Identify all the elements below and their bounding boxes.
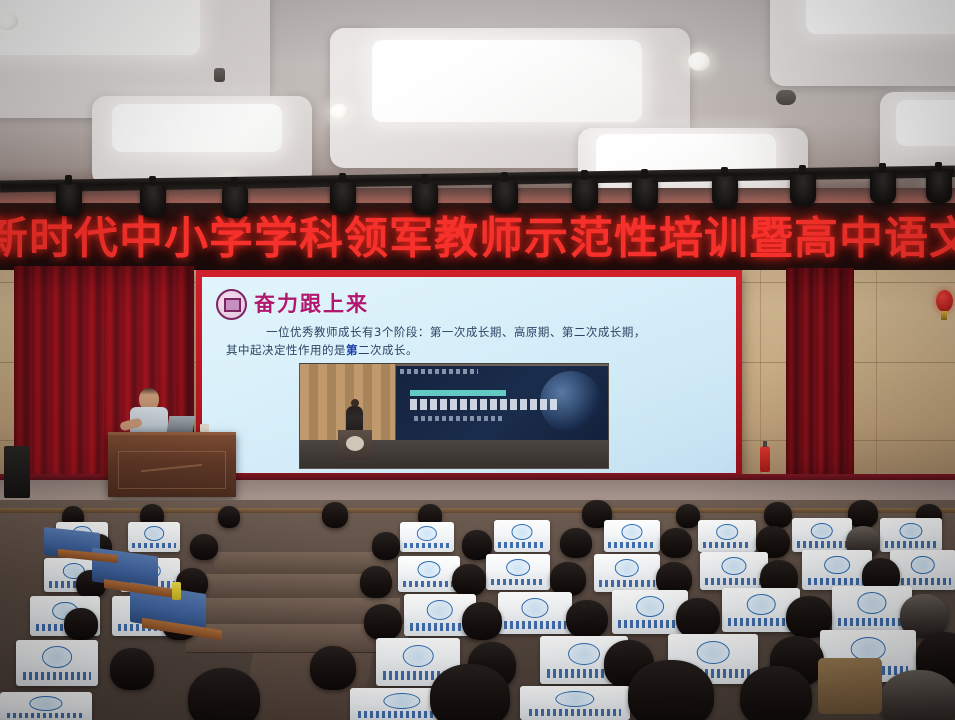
chair-cover	[128, 522, 180, 552]
school-logo-icon	[42, 646, 72, 667]
ceiling-speaker	[776, 90, 796, 105]
downlight	[688, 52, 710, 71]
school-logo-icon	[29, 696, 62, 711]
school-logo-icon	[417, 561, 440, 578]
audience-head	[462, 602, 502, 640]
chair-cover-text	[797, 541, 847, 547]
ceiling-light-panel	[372, 40, 642, 122]
chair-cover	[802, 550, 872, 590]
school-logo-icon	[511, 524, 532, 539]
ceiling-light-panel	[896, 100, 955, 146]
photo-podium	[338, 430, 372, 460]
presentation-slide: 奋力跟上来 一位优秀教师成长有3个阶段：第一次成长期、高原期、第二次成长期， 其…	[202, 277, 736, 473]
school-logo-icon	[747, 594, 776, 614]
par-can-light	[926, 171, 952, 203]
chair-cover	[398, 556, 460, 592]
audience-head	[64, 608, 98, 640]
audience-seating	[0, 500, 955, 720]
audience-head	[628, 660, 714, 720]
audience-head	[322, 502, 348, 528]
audience-head	[364, 604, 402, 640]
ceiling-light-panel	[0, 0, 200, 55]
chair-cover-text	[404, 543, 449, 548]
chair-cover-text	[7, 713, 84, 718]
school-logo-icon	[811, 523, 833, 539]
chair-cover-text	[498, 542, 545, 548]
audience-head	[188, 668, 260, 720]
audience-head	[452, 564, 486, 596]
chair-cover-text	[705, 578, 762, 585]
photo-inner-title-text	[410, 399, 560, 410]
audience-head	[550, 562, 586, 596]
par-can-light	[632, 178, 658, 210]
par-can-light	[222, 186, 248, 218]
chair-cover-text	[618, 620, 682, 628]
chair-cover-text	[728, 618, 794, 626]
audience-head	[566, 600, 608, 638]
downlight	[330, 104, 349, 120]
laptop	[167, 416, 196, 432]
projection-screen: 奋力跟上来 一位优秀教师成长有3个阶段：第一次成长期、高原期、第二次成长期， 其…	[196, 270, 742, 482]
school-logo-icon	[636, 596, 664, 616]
chair-cover	[880, 518, 942, 552]
par-can-light	[140, 185, 166, 217]
audience-head	[848, 500, 878, 528]
audience-head	[110, 648, 154, 690]
wall-seam	[876, 270, 877, 485]
chair-cover	[494, 520, 550, 552]
chair-cover	[400, 522, 454, 552]
chair-cover-text	[529, 709, 621, 715]
ceiling-light-panel	[112, 104, 282, 152]
audience-head	[430, 664, 510, 720]
water-bottle	[172, 582, 181, 600]
audience-head	[560, 528, 592, 558]
school-logo-icon	[506, 559, 530, 576]
chair-cover-text	[23, 672, 92, 680]
chair-cover	[16, 640, 98, 686]
audience-head	[190, 534, 218, 560]
school-logo-icon	[911, 556, 935, 575]
handbag	[818, 658, 882, 714]
photo-inner-screen	[396, 366, 608, 440]
school-logo-icon	[383, 693, 420, 709]
seal-logo-icon	[216, 289, 247, 320]
chair-cover-text	[491, 579, 545, 585]
chair-cover-text	[808, 578, 867, 585]
banner-text: 新时代中小学学科领军教师示范性培训暨高中语文教学经验交流	[0, 208, 955, 270]
school-logo-icon	[427, 600, 453, 620]
audience-head	[676, 504, 700, 528]
photo-inner-header-text	[400, 369, 478, 374]
fire-extinguisher	[760, 446, 770, 472]
school-logo-icon	[555, 691, 594, 707]
chair-cover	[486, 554, 550, 590]
ceiling-light-panel	[806, 0, 955, 34]
school-logo-icon	[403, 645, 434, 667]
photo-inner-subtitle-text	[414, 416, 502, 421]
chair-cover-text	[838, 618, 905, 626]
school-logo-icon	[721, 557, 746, 575]
par-can-light	[412, 183, 438, 215]
school-logo-icon	[716, 524, 738, 539]
conference-hall-photo: 新时代中小学学科领军教师示范性培训暨高中语文教学经验交流 奋力跟上来 一位优秀教…	[0, 0, 955, 720]
par-can-light	[870, 172, 896, 204]
school-logo-icon	[824, 556, 850, 575]
par-can-light	[492, 181, 518, 213]
red-lantern	[936, 290, 953, 312]
chair-cover	[698, 520, 756, 552]
chair-cover	[520, 686, 630, 720]
school-logo-icon	[615, 559, 639, 577]
par-can-light	[56, 184, 82, 216]
stage-curtain-right	[786, 268, 854, 486]
chair-cover	[604, 520, 660, 552]
floor-speaker	[4, 446, 30, 498]
audience-head	[660, 528, 692, 558]
par-can-light	[790, 174, 816, 206]
chair-cover	[498, 592, 572, 634]
school-logo-icon	[899, 523, 922, 539]
stair-step	[214, 552, 384, 575]
embedded-lecture-photo	[299, 363, 609, 469]
audience-head	[360, 566, 392, 598]
audience-head	[880, 670, 955, 720]
par-can-light	[330, 182, 356, 214]
chair-cover	[792, 518, 852, 552]
chair-cover-text	[504, 621, 566, 629]
chair-cover-text	[132, 543, 176, 548]
podium	[108, 432, 236, 497]
slide-title: 奋力跟上来	[254, 288, 369, 318]
slide-body: 一位优秀教师成长有3个阶段：第一次成长期、高原期、第二次成长期， 其中起决定性作…	[226, 323, 720, 359]
school-logo-icon	[621, 524, 642, 539]
chair-cover-text	[608, 542, 655, 548]
chair-cover	[594, 554, 660, 592]
ceiling-speaker	[214, 68, 225, 82]
par-can-light	[712, 176, 738, 208]
chair-cover	[700, 552, 768, 590]
slide-body-line-2-post: 二次成长。	[358, 343, 418, 357]
slide-body-line-1: 一位优秀教师成长有3个阶段：第一次成长期、高原期、第二次成长期，	[226, 323, 720, 341]
audience-head	[372, 532, 400, 560]
chair-cover	[0, 692, 92, 720]
par-can-light	[572, 179, 598, 211]
audience-head	[676, 598, 720, 638]
audience-head	[310, 646, 356, 690]
slide-body-line-2-pre: 其中起决定性作用的是	[226, 343, 346, 357]
chair-cover	[890, 550, 955, 590]
audience-head	[740, 666, 812, 720]
slide-body-emphasis: 第	[346, 343, 358, 357]
chair-cover-text	[599, 580, 654, 587]
chair-cover-text	[403, 581, 455, 587]
chair-cover-text	[895, 578, 950, 585]
school-logo-icon	[144, 526, 164, 541]
audience-head	[764, 502, 792, 528]
school-logo-icon	[568, 643, 600, 665]
photo-inner-accent-bar	[410, 390, 506, 396]
school-logo-icon	[417, 526, 437, 541]
audience-head	[218, 506, 240, 528]
chair-cover-text	[885, 541, 937, 547]
lantern-tassel	[941, 311, 947, 320]
school-logo-icon	[521, 598, 548, 618]
school-logo-icon	[697, 641, 730, 664]
school-logo-icon	[857, 592, 886, 613]
chair-cover-text	[703, 542, 752, 548]
